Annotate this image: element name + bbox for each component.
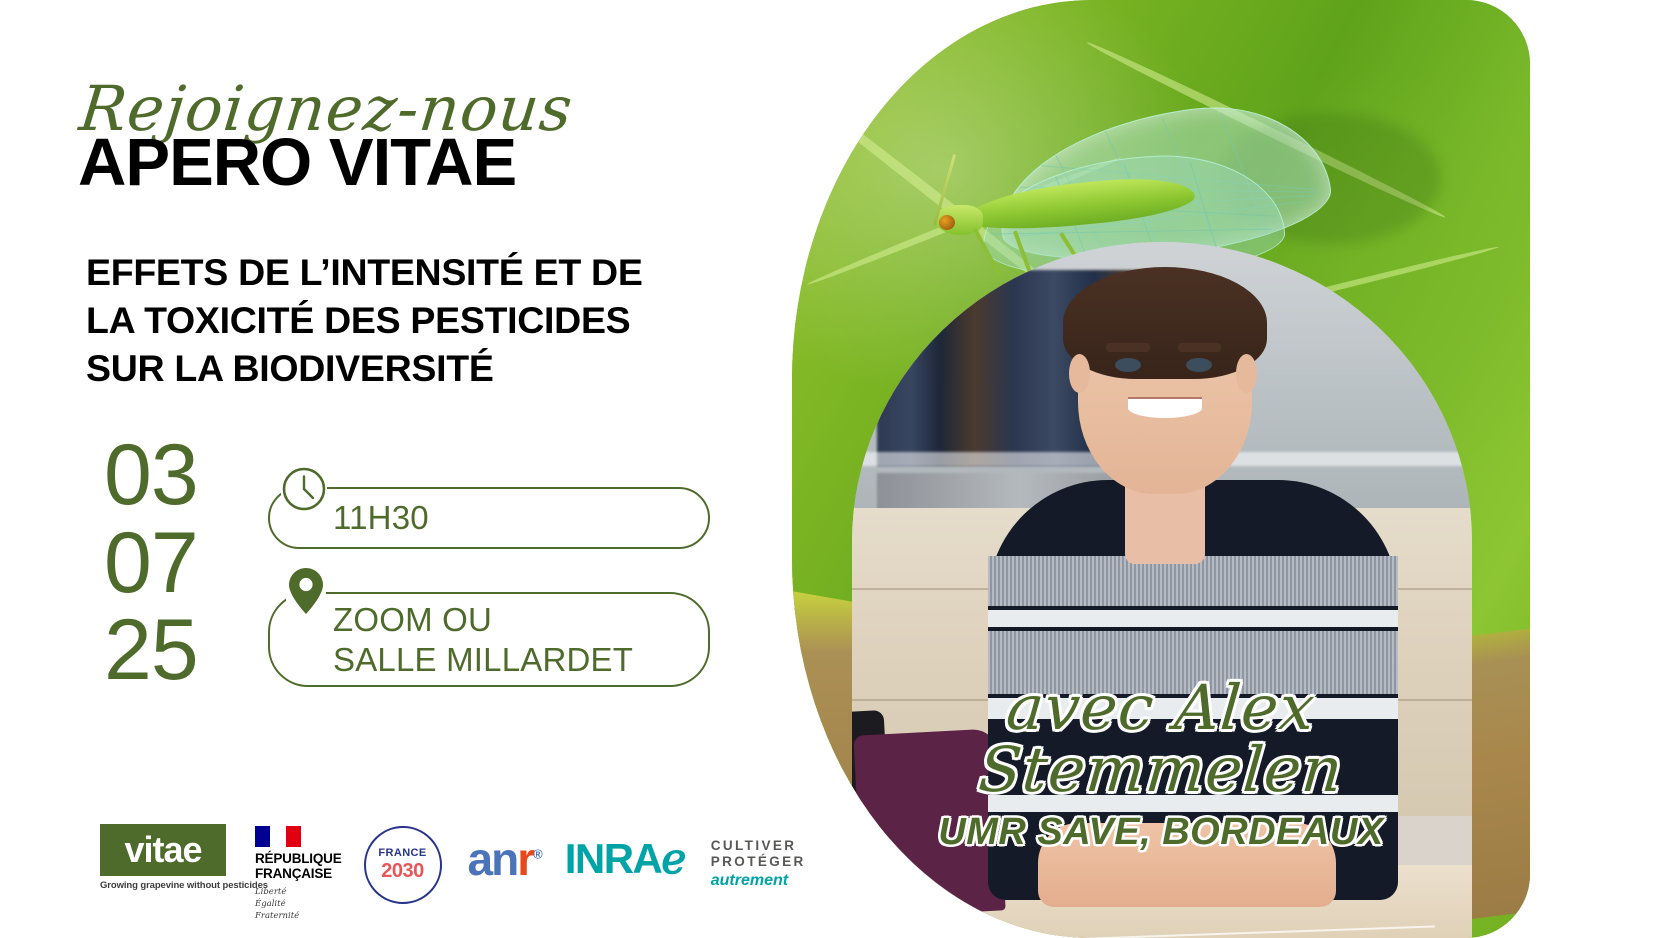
rf-title: RÉPUBLIQUE FRANÇAISE — [255, 851, 342, 882]
rf-motto: Liberté Égalité Fraternité — [255, 886, 342, 923]
poster-canvas: Rejoignez-nous APERO VITAE EFFETS DE L’I… — [0, 0, 1667, 938]
speaker-portrait-photo — [852, 242, 1472, 938]
france2030-number: 2030 — [381, 860, 424, 882]
partner-logo-bar: vitae Growing grapevine without pesticid… — [100, 824, 806, 922]
vitae-mark: vitae — [100, 824, 226, 876]
date-day: 03 — [104, 432, 198, 520]
brand-title: APERO VITAE — [78, 124, 516, 201]
rf-motto-line-2: Égalité — [255, 898, 342, 910]
subtitle-line-3: SUR LA BIODIVERSITÉ — [86, 344, 766, 392]
rf-motto-line-1: Liberté — [255, 886, 342, 898]
logo-inrae: INRAℯ — [565, 838, 685, 880]
anr-r: r — [517, 833, 533, 885]
france2030-top: FRANCE — [378, 848, 426, 859]
logo-france-2030: FRANCE 2030 — [364, 826, 442, 904]
photo-panel: avec Alex Stemmelen UMR SAVE, BORDEAUX — [792, 0, 1530, 938]
french-flag-icon — [255, 826, 301, 847]
anr-registered-icon: ® — [533, 847, 543, 862]
place-value: ZOOM OU SALLE MILLARDET — [333, 600, 633, 681]
time-value: 11H30 — [333, 498, 429, 538]
portrait-eyebrow — [1106, 343, 1149, 352]
logo-vitae: vitae Growing grapevine without pesticid… — [100, 824, 230, 891]
vitae-tagline: Growing grapevine without pesticides — [100, 880, 230, 891]
portrait-eye — [1186, 358, 1212, 372]
rf-motto-line-3: Fraternité — [255, 910, 342, 922]
lacewing-leaf-photo — [792, 0, 1530, 938]
vitae-wordmark: vitae — [124, 832, 201, 868]
place-line-2: SALLE MILLARDET — [333, 640, 633, 680]
logo-republique-francaise: RÉPUBLIQUE FRANÇAISE Liberté Égalité Fra… — [255, 824, 342, 922]
lacewing-eye — [939, 215, 955, 230]
date-month: 07 — [104, 520, 198, 608]
portrait-hair — [1063, 267, 1268, 379]
left-content-column: Rejoignez-nous APERO VITAE EFFETS DE L’I… — [0, 0, 800, 938]
portrait-eyebrow — [1178, 343, 1221, 352]
subtitle-line-1: EFFETS DE L’INTENSITÉ ET DE — [86, 248, 766, 296]
rf-title-line-1: RÉPUBLIQUE — [255, 851, 342, 866]
logo-anr: anr® — [468, 836, 543, 882]
portrait-ear — [1069, 354, 1090, 393]
event-date: 03 07 25 — [104, 432, 198, 695]
clock-icon — [281, 466, 327, 512]
portrait-smile — [1128, 397, 1202, 417]
rf-title-line-2: FRANÇAISE — [255, 866, 342, 881]
map-pin-icon — [286, 565, 326, 617]
date-year: 25 — [104, 607, 198, 695]
portrait-hands — [1038, 823, 1336, 907]
event-subtitle: EFFETS DE L’INTENSITÉ ET DE LA TOXICITÉ … — [86, 248, 766, 392]
portrait-chair — [854, 728, 1006, 917]
subtitle-line-2: LA TOXICITÉ DES PESTICIDES — [86, 296, 766, 344]
place-line-1: ZOOM OU — [333, 600, 633, 640]
anr-an: an — [468, 833, 518, 885]
